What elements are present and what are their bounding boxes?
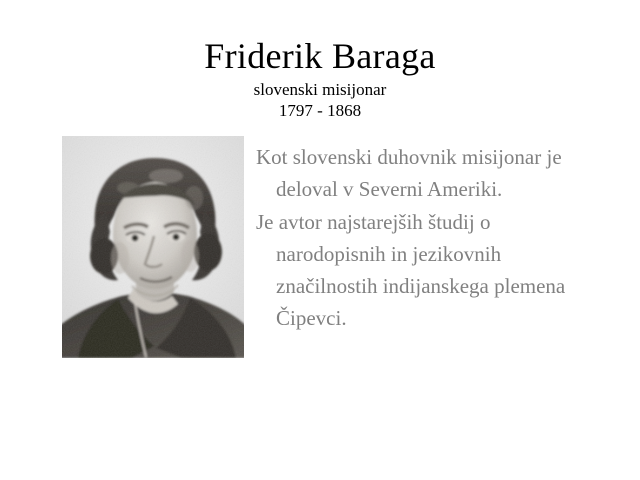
bullet-item: Je avtor najstarejših študij o narodopis…	[256, 206, 592, 334]
title-block: Friderik Baraga slovenski misijonar 1797…	[0, 36, 640, 121]
page-title: Friderik Baraga	[0, 36, 640, 76]
slide-dates: 1797 - 1868	[0, 101, 640, 121]
portrait-photo	[62, 136, 244, 358]
body-text-block: Kot slovenski duhovnik misijonar je delo…	[256, 141, 592, 334]
presentation-slide: Friderik Baraga slovenski misijonar 1797…	[0, 0, 640, 480]
slide-subtitle: slovenski misijonar	[0, 80, 640, 100]
portrait-image	[62, 136, 244, 358]
bullet-item: Kot slovenski duhovnik misijonar je delo…	[256, 141, 592, 205]
